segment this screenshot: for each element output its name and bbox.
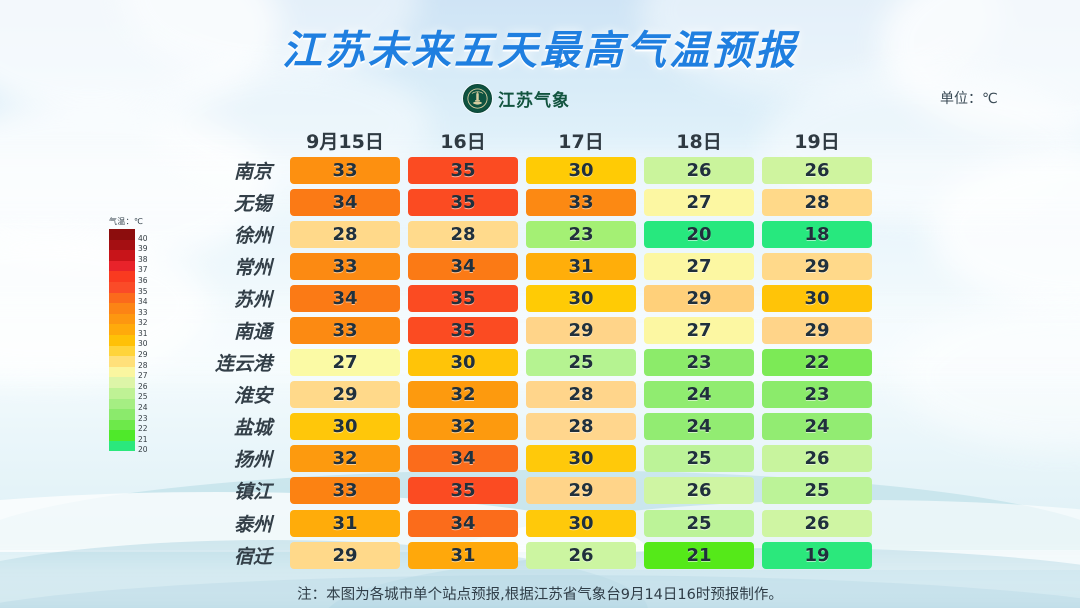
temperature-cell: 25: [644, 445, 754, 472]
temperature-cell: 31: [408, 542, 518, 569]
legend-value: 29: [138, 351, 148, 359]
legend-swatch: [109, 314, 135, 325]
table-row: 徐州2828232018: [186, 218, 876, 250]
legend-value: 28: [138, 362, 148, 370]
temperature-cell: 29: [762, 317, 872, 344]
legend-swatch: [109, 367, 135, 378]
temperature-cell: 35: [408, 317, 518, 344]
temperature-cell: 26: [526, 542, 636, 569]
temperature-cell: 27: [290, 349, 400, 376]
row-header-city: 苏州: [186, 285, 286, 312]
legend-swatch: [109, 356, 135, 367]
temperature-cell: 30: [526, 285, 636, 312]
legend-swatch: [109, 240, 135, 251]
legend-value: 25: [138, 393, 148, 401]
temperature-cell: 35: [408, 477, 518, 504]
legend-swatch: [109, 271, 135, 282]
legend-entry: 39: [109, 240, 161, 251]
temperature-cell: 23: [644, 349, 754, 376]
temperature-cell: 30: [408, 349, 518, 376]
temperature-cell: 19: [762, 542, 872, 569]
legend-swatch: [109, 261, 135, 272]
legend-swatch: [109, 293, 135, 304]
legend-value: 33: [138, 309, 148, 317]
temperature-cell: 21: [644, 542, 754, 569]
row-header-city: 泰州: [186, 510, 286, 537]
legend-value: 38: [138, 256, 148, 264]
legend-value: 34: [138, 298, 148, 306]
legend-entry: 36: [109, 271, 161, 282]
legend-value: 30: [138, 340, 148, 348]
legend-value: 21: [138, 436, 148, 444]
row-header-city: 南通: [186, 317, 286, 344]
temperature-cell: 33: [290, 253, 400, 280]
table-row: 无锡3435332728: [186, 186, 876, 218]
temperature-cell: 34: [290, 285, 400, 312]
legend-entry: 22: [109, 420, 161, 431]
legend-entry: 38: [109, 250, 161, 261]
legend-value: 37: [138, 266, 148, 274]
legend-entry: 40: [109, 229, 161, 240]
legend-value: 36: [138, 277, 148, 285]
legend-entry: 37: [109, 261, 161, 272]
temperature-cell: 27: [644, 189, 754, 216]
legend-value: 24: [138, 404, 148, 412]
legend-entry: 30: [109, 335, 161, 346]
legend-entry: 21: [109, 430, 161, 441]
temperature-cell: 29: [290, 542, 400, 569]
legend-swatch: [109, 388, 135, 399]
legend-swatch: [109, 303, 135, 314]
brand-logo: 江苏气象: [463, 84, 570, 113]
legend-swatch: [109, 346, 135, 357]
temperature-cell: 26: [644, 157, 754, 184]
temperature-cell: 30: [526, 157, 636, 184]
temperature-cell: 24: [762, 413, 872, 440]
legend-value: 40: [138, 235, 148, 243]
temperature-cell: 28: [290, 221, 400, 248]
column-header-date: 16日: [404, 127, 522, 154]
temperature-cell: 22: [762, 349, 872, 376]
legend-swatch: [109, 420, 135, 431]
row-header-city: 盐城: [186, 413, 286, 440]
temperature-cell: 34: [290, 189, 400, 216]
temperature-cell: 25: [644, 510, 754, 537]
legend-swatch: [109, 377, 135, 388]
temperature-cell: 26: [644, 477, 754, 504]
legend-entry: 20: [109, 441, 161, 452]
temperature-cell: 29: [644, 285, 754, 312]
temperature-cell: 28: [526, 413, 636, 440]
legend-entry: 27: [109, 367, 161, 378]
temperature-cell: 26: [762, 510, 872, 537]
legend-entry: 24: [109, 399, 161, 410]
legend-value: 26: [138, 383, 148, 391]
legend-swatch: [109, 430, 135, 441]
temperature-cell: 26: [762, 157, 872, 184]
legend-entry: 35: [109, 282, 161, 293]
temperature-cell: 32: [408, 381, 518, 408]
legend-entry: 25: [109, 388, 161, 399]
temperature-cell: 31: [290, 510, 400, 537]
temperature-legend: 气温：℃ 40393837363534333231302928272625242…: [109, 216, 161, 451]
temperature-cell: 25: [526, 349, 636, 376]
legend-swatch: [109, 441, 135, 452]
row-header-city: 连云港: [186, 349, 286, 376]
temperature-cell: 30: [762, 285, 872, 312]
page-title: 江苏未来五天最高气温预报: [0, 18, 1080, 76]
legend-swatch: [109, 282, 135, 293]
table-row: 南京3335302626: [186, 154, 876, 186]
row-header-city: 徐州: [186, 221, 286, 248]
table-row: 连云港2730252322: [186, 347, 876, 379]
temperature-cell: 34: [408, 445, 518, 472]
temperature-cell: 29: [762, 253, 872, 280]
table-row: 泰州3134302526: [186, 507, 876, 539]
legend-swatch: [109, 409, 135, 420]
column-header-date: 18日: [640, 127, 758, 154]
temperature-cell: 20: [644, 221, 754, 248]
temperature-cell: 33: [290, 157, 400, 184]
table-row: 扬州3234302526: [186, 443, 876, 475]
table-row: 宿迁2931262119: [186, 539, 876, 571]
legend-swatch: [109, 324, 135, 335]
legend-value: 27: [138, 372, 148, 380]
table-row: 盐城3032282424: [186, 411, 876, 443]
temperature-cell: 35: [408, 285, 518, 312]
temperature-cell: 32: [408, 413, 518, 440]
temperature-cell: 28: [408, 221, 518, 248]
temperature-cell: 23: [762, 381, 872, 408]
row-header-city: 无锡: [186, 189, 286, 216]
table-row: 南通3335292729: [186, 314, 876, 346]
legend-entry: 34: [109, 293, 161, 304]
temperature-cell: 33: [526, 189, 636, 216]
temperature-cell: 27: [644, 253, 754, 280]
temperature-cell: 26: [762, 445, 872, 472]
table-header-row: 9月15日 16日 17日 18日 19日: [186, 120, 876, 154]
legend-title: 气温：℃: [109, 216, 161, 227]
temperature-cell: 23: [526, 221, 636, 248]
jiangsu-meteorology-emblem-icon: [463, 84, 492, 113]
temperature-cell: 33: [290, 317, 400, 344]
temperature-cell: 35: [408, 157, 518, 184]
legend-value: 31: [138, 330, 148, 338]
legend-value: 39: [138, 245, 148, 253]
footnote: 注：本图为各城市单个站点预报,根据江苏省气象台9月14日16时预报制作。: [0, 583, 1080, 604]
temperature-cell: 34: [408, 253, 518, 280]
temperature-cell: 34: [408, 510, 518, 537]
legend-entry: 28: [109, 356, 161, 367]
table-row: 苏州3435302930: [186, 282, 876, 314]
temperature-cell: 30: [290, 413, 400, 440]
temperature-cell: 33: [290, 477, 400, 504]
legend-entry: 33: [109, 303, 161, 314]
temperature-cell: 27: [644, 317, 754, 344]
legend-swatch: [109, 335, 135, 346]
legend-swatch: [109, 250, 135, 261]
legend-entry: 32: [109, 314, 161, 325]
temperature-cell: 28: [762, 189, 872, 216]
column-header-date: 19日: [758, 127, 876, 154]
temperature-cell: 31: [526, 253, 636, 280]
temperature-cell: 25: [762, 477, 872, 504]
row-header-city: 淮安: [186, 381, 286, 408]
temperature-cell: 30: [526, 510, 636, 537]
temperature-cell: 28: [526, 381, 636, 408]
row-header-city: 南京: [186, 157, 286, 184]
temperature-cell: 24: [644, 381, 754, 408]
table-row: 常州3334312729: [186, 250, 876, 282]
temperature-cell: 29: [526, 317, 636, 344]
row-header-city: 镇江: [186, 477, 286, 504]
row-header-city: 宿迁: [186, 542, 286, 569]
temperature-cell: 29: [526, 477, 636, 504]
temperature-cell: 35: [408, 189, 518, 216]
legend-value: 32: [138, 319, 148, 327]
legend-entry: 31: [109, 324, 161, 335]
column-header-date: 17日: [522, 127, 640, 154]
legend-value: 23: [138, 415, 148, 423]
table-row: 镇江3335292625: [186, 475, 876, 507]
row-header-city: 扬州: [186, 445, 286, 472]
legend-swatch: [109, 229, 135, 240]
legend-entry: 26: [109, 377, 161, 388]
unit-label: 单位：℃: [940, 88, 998, 108]
table-body: 南京3335302626无锡3435332728徐州2828232018常州33…: [186, 154, 876, 571]
temperature-cell: 32: [290, 445, 400, 472]
column-header-date: 9月15日: [286, 127, 404, 154]
temperature-cell: 30: [526, 445, 636, 472]
legend-value: 22: [138, 425, 148, 433]
table-row: 淮安2932282423: [186, 379, 876, 411]
legend-entry: 23: [109, 409, 161, 420]
temperature-cell: 18: [762, 221, 872, 248]
temperature-cell: 24: [644, 413, 754, 440]
legend-value: 20: [138, 446, 148, 454]
legend-value: 35: [138, 288, 148, 296]
brand-logo-label: 江苏气象: [498, 86, 570, 111]
legend-entry: 29: [109, 346, 161, 357]
legend-swatch: [109, 399, 135, 410]
row-header-city: 常州: [186, 253, 286, 280]
legend-scale: 4039383736353433323130292827262524232221…: [109, 229, 161, 451]
forecast-table: 9月15日 16日 17日 18日 19日 南京3335302626无锡3435…: [186, 120, 876, 571]
temperature-cell: 29: [290, 381, 400, 408]
